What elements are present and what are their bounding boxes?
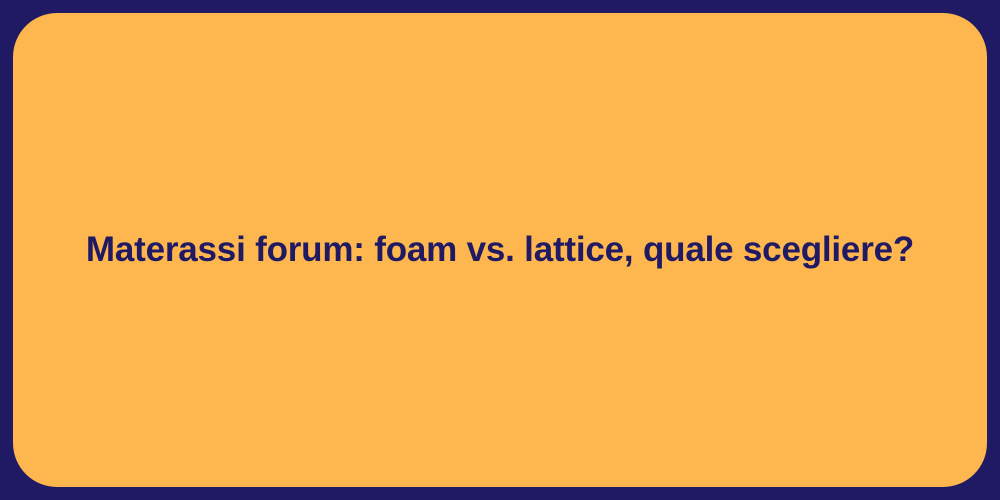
outer-frame: Materassi forum: foam vs. lattice, quale…: [0, 0, 1000, 500]
headline-card: Materassi forum: foam vs. lattice, quale…: [13, 13, 987, 487]
card-headline: Materassi forum: foam vs. lattice, quale…: [46, 228, 954, 272]
